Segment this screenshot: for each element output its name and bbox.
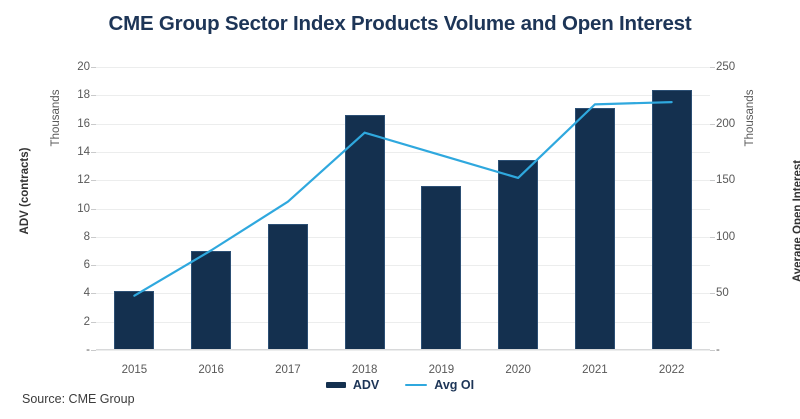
bar-adv-2018[interactable] bbox=[345, 115, 385, 350]
left-axis-tick-labels: 2018161412108642- bbox=[52, 67, 90, 350]
left-axis-tick-label: 16 bbox=[77, 118, 90, 130]
right-tick-mark bbox=[710, 293, 715, 294]
bars-layer bbox=[96, 67, 710, 350]
left-tick-mark bbox=[91, 350, 96, 351]
right-tick-mark bbox=[710, 67, 715, 68]
right-tick-mark bbox=[710, 237, 715, 238]
chart-container: CME Group Sector Index Products Volume a… bbox=[0, 0, 800, 419]
right-tick-mark bbox=[710, 124, 715, 125]
bar-adv-2019[interactable] bbox=[421, 186, 461, 350]
left-axis-tick-label: - bbox=[86, 344, 90, 356]
right-axis-tick-label: 200 bbox=[716, 118, 735, 130]
left-axis-tick-label: 8 bbox=[84, 231, 90, 243]
legend-item-adv[interactable]: ADV bbox=[326, 378, 379, 392]
bar-slot bbox=[480, 67, 557, 350]
x-axis-tick-label-2016: 2016 bbox=[198, 364, 224, 376]
legend-bar-swatch-icon bbox=[326, 382, 346, 388]
left-axis-tick-label: 20 bbox=[77, 61, 90, 73]
bar-adv-2015[interactable] bbox=[114, 291, 154, 350]
x-axis-tick-labels: 20152016201720182019202020212022 bbox=[96, 356, 710, 376]
left-axis-tick-label: 12 bbox=[77, 174, 90, 186]
x-axis-tick-label-2018: 2018 bbox=[352, 364, 378, 376]
bar-adv-2016[interactable] bbox=[191, 251, 231, 350]
x-axis-tick-label-2022: 2022 bbox=[659, 364, 685, 376]
x-axis-tick-label-2020: 2020 bbox=[505, 364, 531, 376]
bar-adv-2017[interactable] bbox=[268, 224, 308, 350]
chart-title: CME Group Sector Index Products Volume a… bbox=[0, 12, 800, 36]
bar-adv-2021[interactable] bbox=[575, 108, 615, 350]
grid-line bbox=[96, 350, 710, 351]
bar-slot bbox=[96, 67, 173, 350]
plot-area bbox=[96, 67, 710, 350]
right-axis-tick-labels: 25020015010050- bbox=[716, 67, 756, 350]
right-axis-title: Average Open Interest bbox=[792, 141, 800, 301]
left-axis-title: ADV (contracts) bbox=[19, 121, 31, 261]
left-axis-tick-label: 6 bbox=[84, 259, 90, 271]
left-axis-tick-label: 10 bbox=[77, 203, 90, 215]
bar-slot bbox=[173, 67, 250, 350]
legend-label-avg-oi: Avg OI bbox=[434, 378, 474, 392]
legend-label-adv: ADV bbox=[353, 378, 379, 392]
bar-adv-2022[interactable] bbox=[652, 90, 692, 350]
right-axis-tick-label: 150 bbox=[716, 174, 735, 186]
legend-line-swatch-icon bbox=[405, 384, 427, 387]
right-tick-mark bbox=[710, 350, 715, 351]
bar-slot bbox=[403, 67, 480, 350]
x-axis-baseline bbox=[96, 349, 710, 350]
bar-slot bbox=[557, 67, 634, 350]
chart-legend: ADV Avg OI bbox=[0, 378, 800, 392]
source-note: Source: CME Group bbox=[22, 392, 135, 406]
right-tick-mark bbox=[710, 180, 715, 181]
x-axis-tick-label-2017: 2017 bbox=[275, 364, 301, 376]
left-axis-tick-label: 2 bbox=[84, 316, 90, 328]
bar-slot bbox=[250, 67, 327, 350]
bar-slot bbox=[326, 67, 403, 350]
bar-slot bbox=[633, 67, 710, 350]
right-axis-tick-label: - bbox=[716, 344, 720, 356]
right-axis-tick-label: 250 bbox=[716, 61, 735, 73]
x-axis-tick-label-2021: 2021 bbox=[582, 364, 608, 376]
x-axis-tick-label-2015: 2015 bbox=[122, 364, 148, 376]
x-axis-tick-label-2019: 2019 bbox=[429, 364, 455, 376]
bar-adv-2020[interactable] bbox=[498, 160, 538, 350]
right-axis-tick-label: 50 bbox=[716, 287, 729, 299]
legend-item-avg-oi[interactable]: Avg OI bbox=[405, 378, 474, 392]
left-axis-tick-label: 4 bbox=[84, 287, 90, 299]
left-axis-tick-label: 14 bbox=[77, 146, 90, 158]
right-axis-tick-label: 100 bbox=[716, 231, 735, 243]
left-axis-tick-label: 18 bbox=[77, 89, 90, 101]
